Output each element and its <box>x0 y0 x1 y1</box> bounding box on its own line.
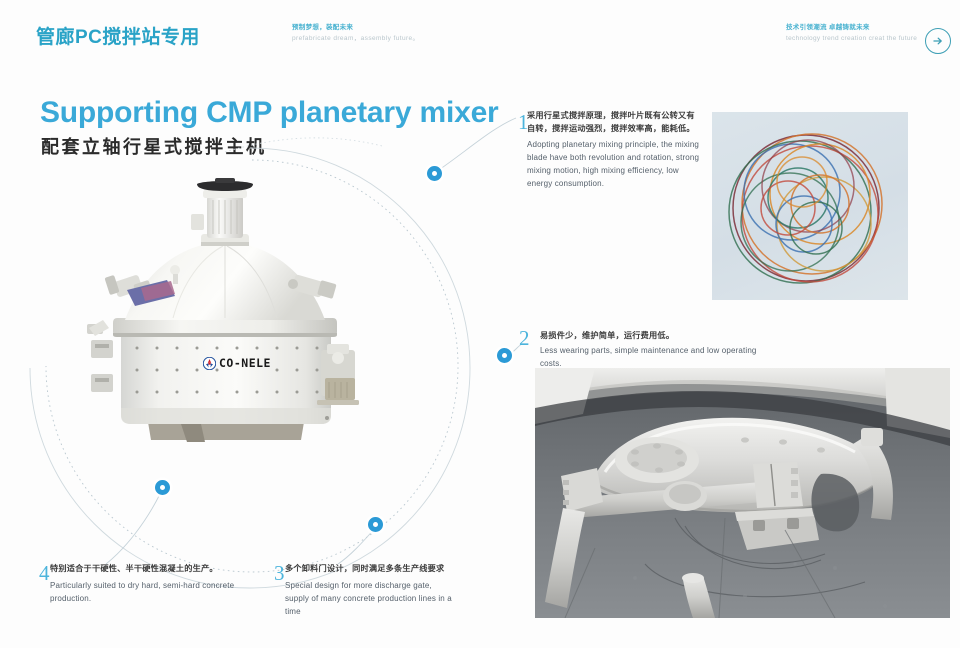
co-nele-brand-plate: CO-NELE <box>203 356 271 370</box>
callout-3-text-en: Special design for more discharge gate, … <box>285 580 455 619</box>
page-header: 管廊PC搅拌站专用 预制梦想，装配未来 prefabricate dream，a… <box>0 0 960 70</box>
callout-4: 4 特别适合于干硬性、半干硬性混凝土的生产。 Particularly suit… <box>50 563 246 606</box>
header-slogan-right-cn: 技术引领潮流 卓越铸就未来 <box>786 24 917 33</box>
co-nele-brand-text: CO-NELE <box>219 356 271 370</box>
connector-node-3[interactable] <box>368 517 383 532</box>
header-slogan-middle-en: prefabricate dream，assembly future。 <box>292 35 419 44</box>
callout-1-number: 1 <box>518 112 529 133</box>
header-slogan-right-en: technology trend creation creat the futu… <box>786 35 917 44</box>
callout-3-text-cn: 多个卸料门设计，同时满足多条生产线要求 <box>285 563 455 576</box>
planetary-mixer-product-photo <box>55 178 395 468</box>
header-slogan-middle-cn: 预制梦想，装配未来 <box>292 24 419 33</box>
co-nele-emblem-icon <box>203 357 216 370</box>
callout-2-number: 2 <box>519 328 530 349</box>
arrow-right-circle-icon[interactable] <box>925 28 951 54</box>
callout-3: 3 多个卸料门设计，同时满足多条生产线要求 Special design for… <box>285 563 455 619</box>
brochure-page: 管廊PC搅拌站专用 预制梦想，装配未来 prefabricate dream，a… <box>0 0 960 648</box>
connector-node-2[interactable] <box>497 348 512 363</box>
callout-2-text-cn: 易损件少，维护简单，运行费用低。 <box>528 330 778 343</box>
callout-2: 2 易损件少，维护简单，运行费用低。 Less wearing parts, s… <box>528 330 778 371</box>
page-title-english: Supporting CMP planetary mixer <box>40 96 499 130</box>
mixer-interior-gearbox-photo <box>535 368 950 618</box>
callout-3-number: 3 <box>274 563 285 584</box>
connector-node-4[interactable] <box>155 480 170 495</box>
header-slogan-right: 技术引领潮流 卓越铸就未来 technology trend creation … <box>786 24 917 44</box>
page-title-chinese: 配套立轴行星式搅拌主机 <box>41 133 267 159</box>
callout-1: 1 采用行星式搅拌原理，搅拌叶片既有公转又有自转，搅拌运动强烈，搅拌效率高，能耗… <box>527 110 703 191</box>
planetary-mixing-trajectory-diagram <box>712 112 908 300</box>
callout-2-text-en: Less wearing parts, simple maintenance a… <box>528 345 778 371</box>
callout-1-text-cn: 采用行星式搅拌原理，搅拌叶片既有公转又有自转，搅拌运动强烈，搅拌效率高，能耗低。 <box>527 110 703 135</box>
callout-4-number: 4 <box>39 563 50 584</box>
callout-1-text-en: Adopting planetary mixing principle, the… <box>527 139 703 191</box>
callout-4-text-cn: 特别适合于干硬性、半干硬性混凝土的生产。 <box>50 563 246 576</box>
callout-4-text-en: Particularly suited to dry hard, semi-ha… <box>50 580 246 606</box>
header-title: 管廊PC搅拌站专用 <box>36 22 200 49</box>
connector-node-1[interactable] <box>427 166 442 181</box>
header-slogan-middle: 预制梦想，装配未来 prefabricate dream，assembly fu… <box>292 24 419 44</box>
